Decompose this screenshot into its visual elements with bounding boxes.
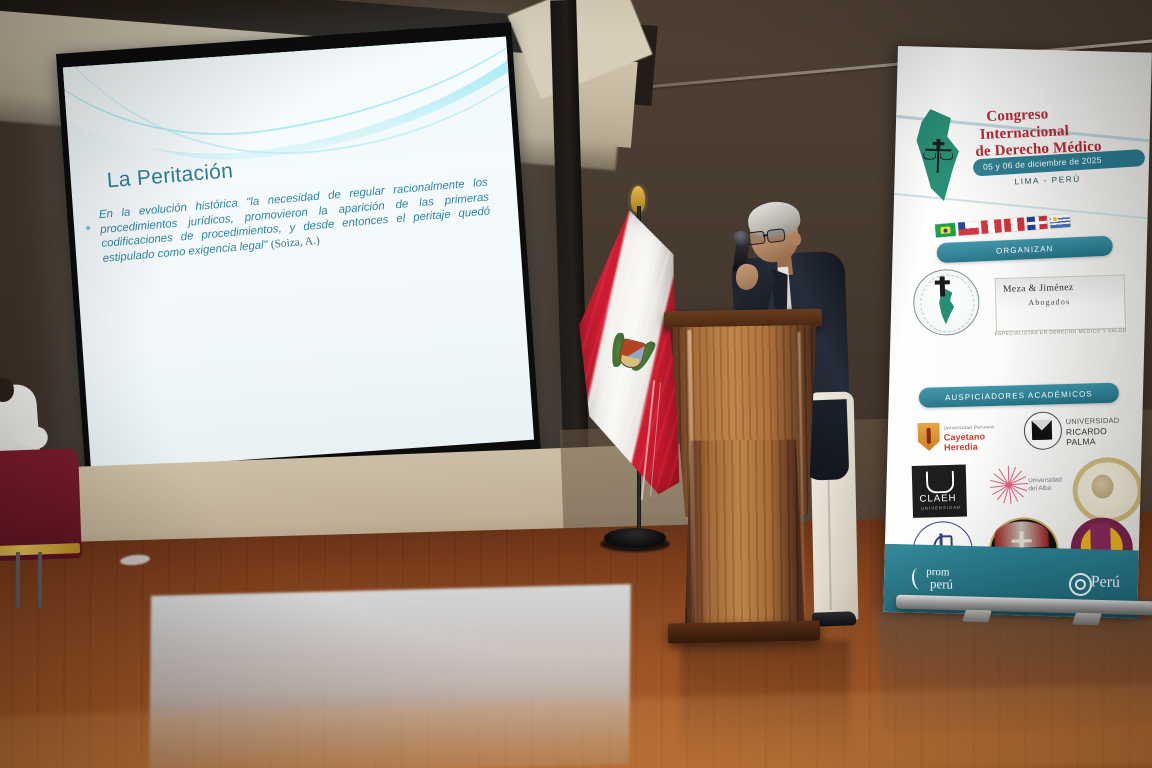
- slide-title: La Peritación: [106, 159, 234, 193]
- banner-stand-foot-right: [1072, 613, 1102, 626]
- slide-bullet-marker: [86, 226, 90, 230]
- conference-stage-scene: La Peritación En la evolución histórica …: [0, 0, 1152, 768]
- banner-sheen-overlay: [883, 46, 1152, 618]
- banner-stand-foot-left: [962, 610, 992, 623]
- slide-body-quote: En la evolución histórica "la necesidad …: [99, 177, 491, 265]
- flag-stand-base: [604, 528, 666, 548]
- slide-citation: (Soiza, A.): [270, 235, 320, 251]
- slide-content: La Peritación En la evolución histórica …: [63, 37, 534, 471]
- podium-column-grain: [683, 439, 805, 630]
- congress-rollup-banner: Congreso Internacional de Derecho Médico…: [883, 46, 1152, 618]
- projection-screen: La Peritación En la evolución histórica …: [56, 22, 541, 483]
- podium-base: [668, 620, 820, 643]
- head-table-legs: [0, 552, 54, 608]
- slide-surface: La Peritación En la evolución histórica …: [63, 37, 534, 471]
